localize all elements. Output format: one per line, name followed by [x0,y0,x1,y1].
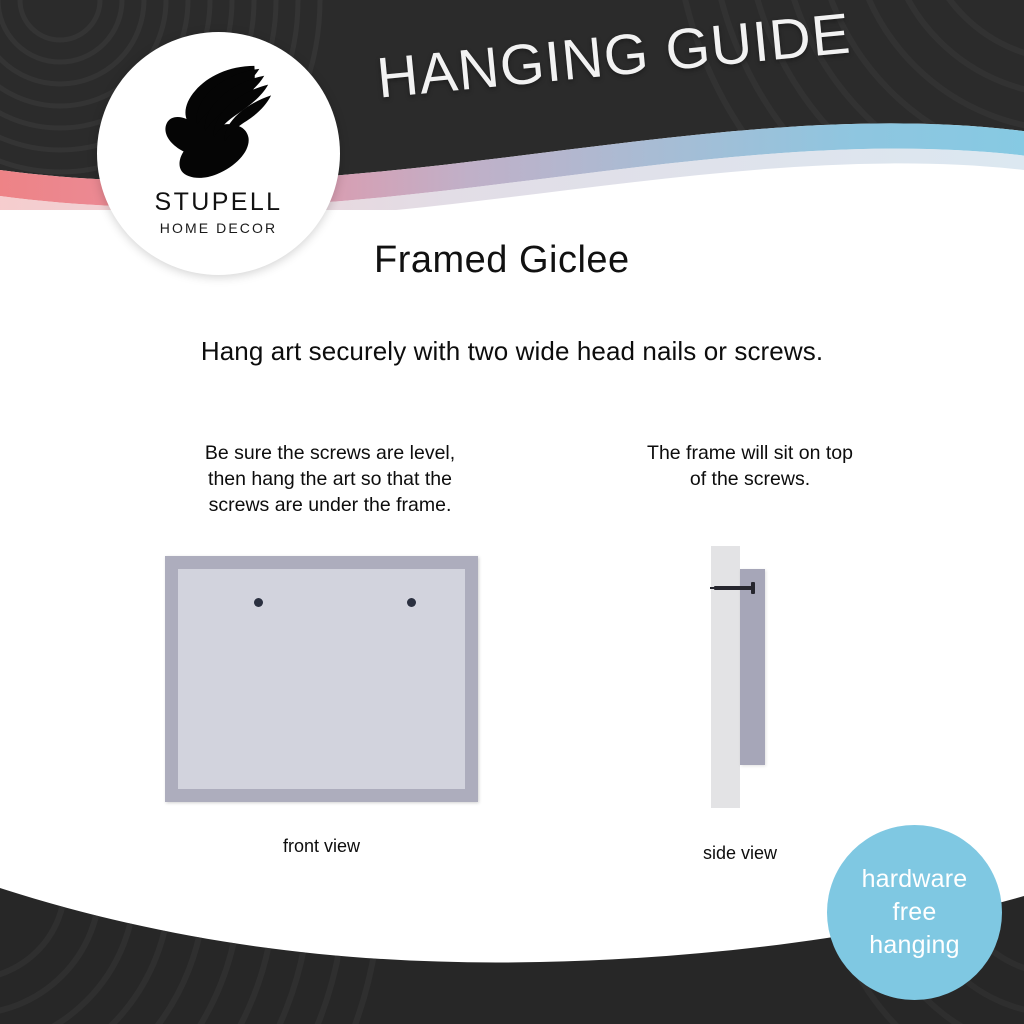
brand-tagline: HOME DECOR [160,220,277,236]
side-view-caption-line-1: The frame will sit on top [560,440,940,466]
lead-instruction: Hang art securely with two wide head nai… [0,336,1024,367]
front-view-caption-block: Be sure the screws are level, then hang … [140,440,520,518]
side-view-frame [740,569,765,765]
stupell-swirl-icon [160,60,278,180]
screw-dot-left-icon [254,598,263,607]
side-view-caption-block: The frame will sit on top of the screws. [560,440,940,492]
hanging-guide-page: STUPELL HOME DECOR HANGING GUIDE Framed … [0,0,1024,1024]
brand-name: STUPELL [155,188,283,217]
badge-line-2: free [862,896,968,929]
front-view-caption-line-1: Be sure the screws are level, [140,440,520,466]
front-view-frame-diagram [165,556,478,802]
hardware-free-badge: hardware free hanging [827,825,1002,1000]
hardware-free-badge-text: hardware free hanging [862,863,968,962]
front-view-frame-artwork [178,569,465,789]
badge-line-3: hanging [862,929,968,962]
product-type-label: Framed Giclee [374,239,630,282]
front-view-caption-line-3: screws are under the frame. [140,492,520,518]
side-view-caption-line-2: of the screws. [560,466,940,492]
badge-line-1: hardware [862,863,968,896]
brand-logo-badge: STUPELL HOME DECOR [97,32,340,275]
screw-dot-right-icon [407,598,416,607]
front-view-caption-line-2: then hang the art so that the [140,466,520,492]
nail-icon [714,586,752,590]
